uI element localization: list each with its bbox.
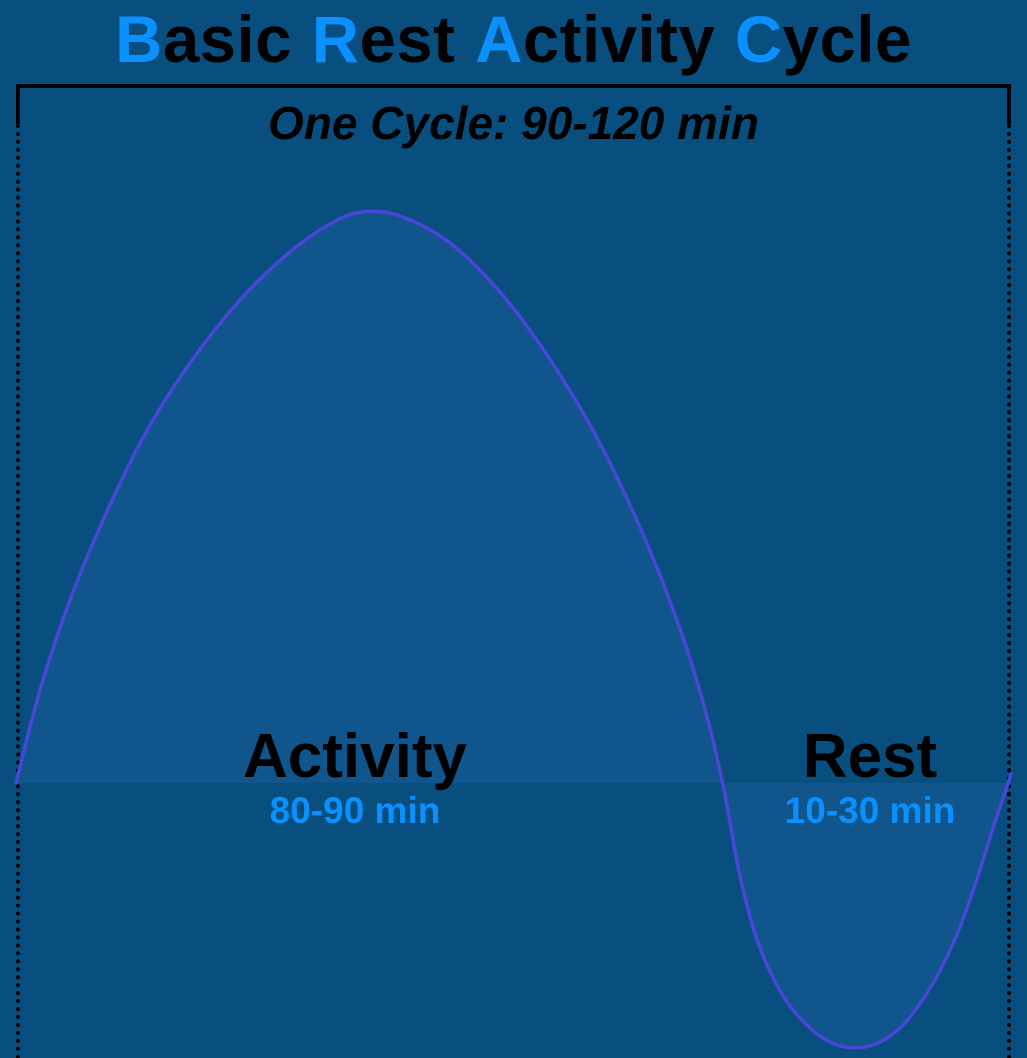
title-word-4: Cycle bbox=[735, 0, 912, 80]
title-rest-4: ycle bbox=[783, 2, 912, 76]
title-rest-2: est bbox=[359, 2, 455, 76]
frame-top-border bbox=[16, 84, 1011, 88]
label-rest: Rest 10-30 min bbox=[740, 726, 1000, 832]
label-activity: Activity 80-90 min bbox=[175, 726, 535, 832]
title-word-2: Rest bbox=[312, 0, 456, 80]
activity-phase-name: Activity bbox=[175, 726, 535, 788]
title-rest-3: ctivity bbox=[523, 2, 715, 76]
activity-phase-duration: 80-90 min bbox=[175, 790, 535, 832]
title-cap-4: C bbox=[735, 2, 783, 76]
title-cap-1: B bbox=[115, 2, 163, 76]
frame-dotted-right-axis bbox=[1007, 124, 1011, 1058]
page-title: BasicRestActivityCycle bbox=[5, 0, 1022, 80]
plot-frame bbox=[16, 84, 1011, 1058]
chart-subtitle: One Cycle: 90-120 min bbox=[0, 96, 1027, 150]
title-word-3: Activity bbox=[475, 0, 715, 80]
rest-phase-name: Rest bbox=[740, 726, 1000, 788]
title-word-1: Basic bbox=[115, 0, 292, 80]
chart-canvas: BasicRestActivityCycle Activity 80-90 mi… bbox=[0, 0, 1027, 1058]
title-cap-2: R bbox=[312, 2, 360, 76]
frame-dotted-left-axis bbox=[16, 124, 20, 1058]
title-rest-1: asic bbox=[163, 2, 292, 76]
title-cap-3: A bbox=[475, 2, 523, 76]
rest-phase-duration: 10-30 min bbox=[740, 790, 1000, 832]
